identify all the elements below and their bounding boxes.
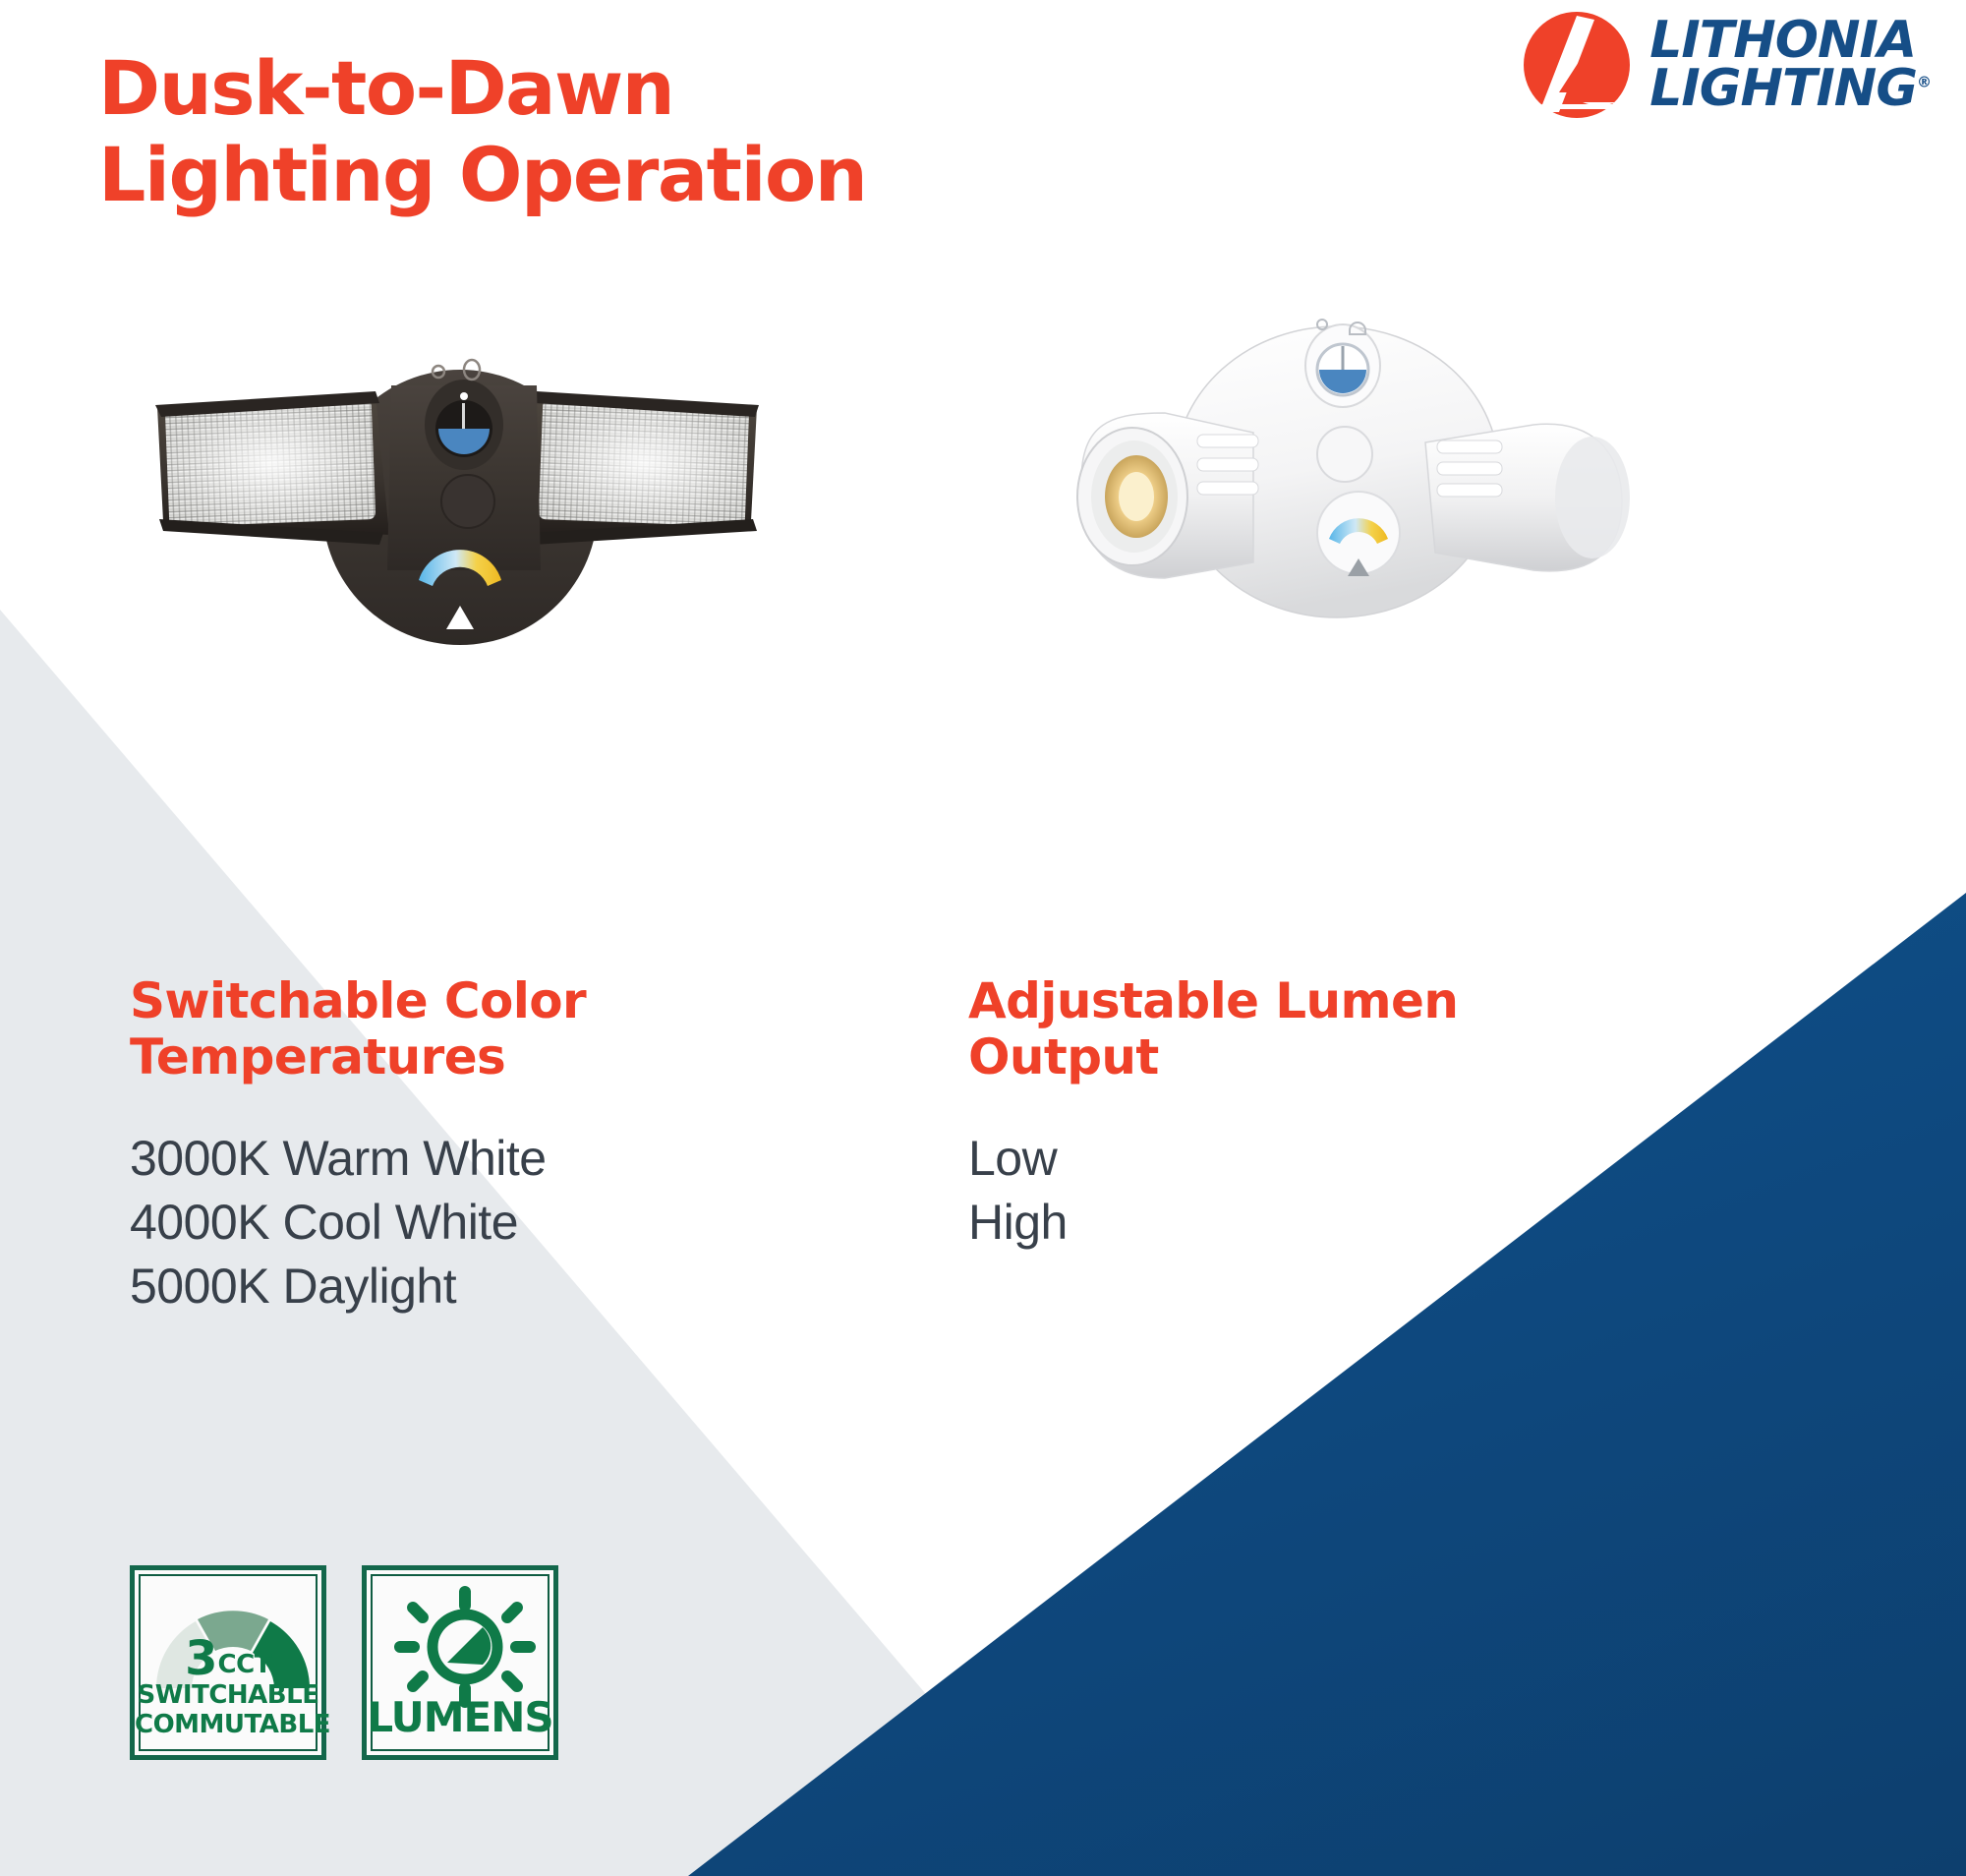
brand-logo-line2: LIGHTING: [1649, 59, 1917, 118]
bronze-twin-head-flood-light: [147, 324, 836, 678]
list-item: 3000K Warm White: [130, 1127, 739, 1191]
column-2-heading: Adjustable Lumen Output: [968, 973, 1578, 1085]
brand-logo: LITHONIA LIGHTING®: [1522, 10, 1931, 120]
badge-1-line-1: SWITCHABLE: [135, 1680, 321, 1710]
brand-logo-line1: LITHONIA: [1649, 17, 1931, 65]
column-switchable-color-temperatures: Switchable Color Temperatures 3000K Warm…: [130, 973, 739, 1319]
cct-selector-dial: [1317, 492, 1400, 576]
badge-1-line-2: COMMUTABLE: [135, 1710, 321, 1739]
lumen-selector-dial: [1317, 427, 1372, 482]
list-item: 4000K Cool White: [130, 1191, 739, 1255]
page-title: Dusk-to-Dawn Lighting Operation: [98, 45, 866, 218]
adjustable-lumens-badge: LUMENS: [362, 1565, 558, 1760]
list-item: Low: [968, 1127, 1578, 1191]
column-1-heading: Switchable Color Temperatures: [130, 973, 739, 1085]
list-item: 5000K Daylight: [130, 1255, 739, 1319]
column-adjustable-lumen-output: Adjustable Lumen Output Low High: [968, 973, 1578, 1255]
registered-mark: ®: [1917, 74, 1931, 91]
lithonia-circle-l-logo-icon: [1522, 10, 1632, 120]
brand-logo-text: LITHONIA LIGHTING®: [1649, 17, 1931, 113]
certification-badges: 3CCT SWITCHABLE COMMUTABLE: [130, 1565, 558, 1760]
poster-canvas: Dusk-to-Dawn Lighting Operation LITHONIA…: [0, 0, 1966, 1876]
list-item: High: [968, 1191, 1578, 1255]
badge-2-line-1: LUMENS: [367, 1693, 553, 1741]
white-twin-head-flood-light: [1071, 305, 1760, 678]
cct-switchable-badge: 3CCT SWITCHABLE COMMUTABLE: [130, 1565, 326, 1760]
cct-count-label: 3CCT: [135, 1631, 321, 1686]
